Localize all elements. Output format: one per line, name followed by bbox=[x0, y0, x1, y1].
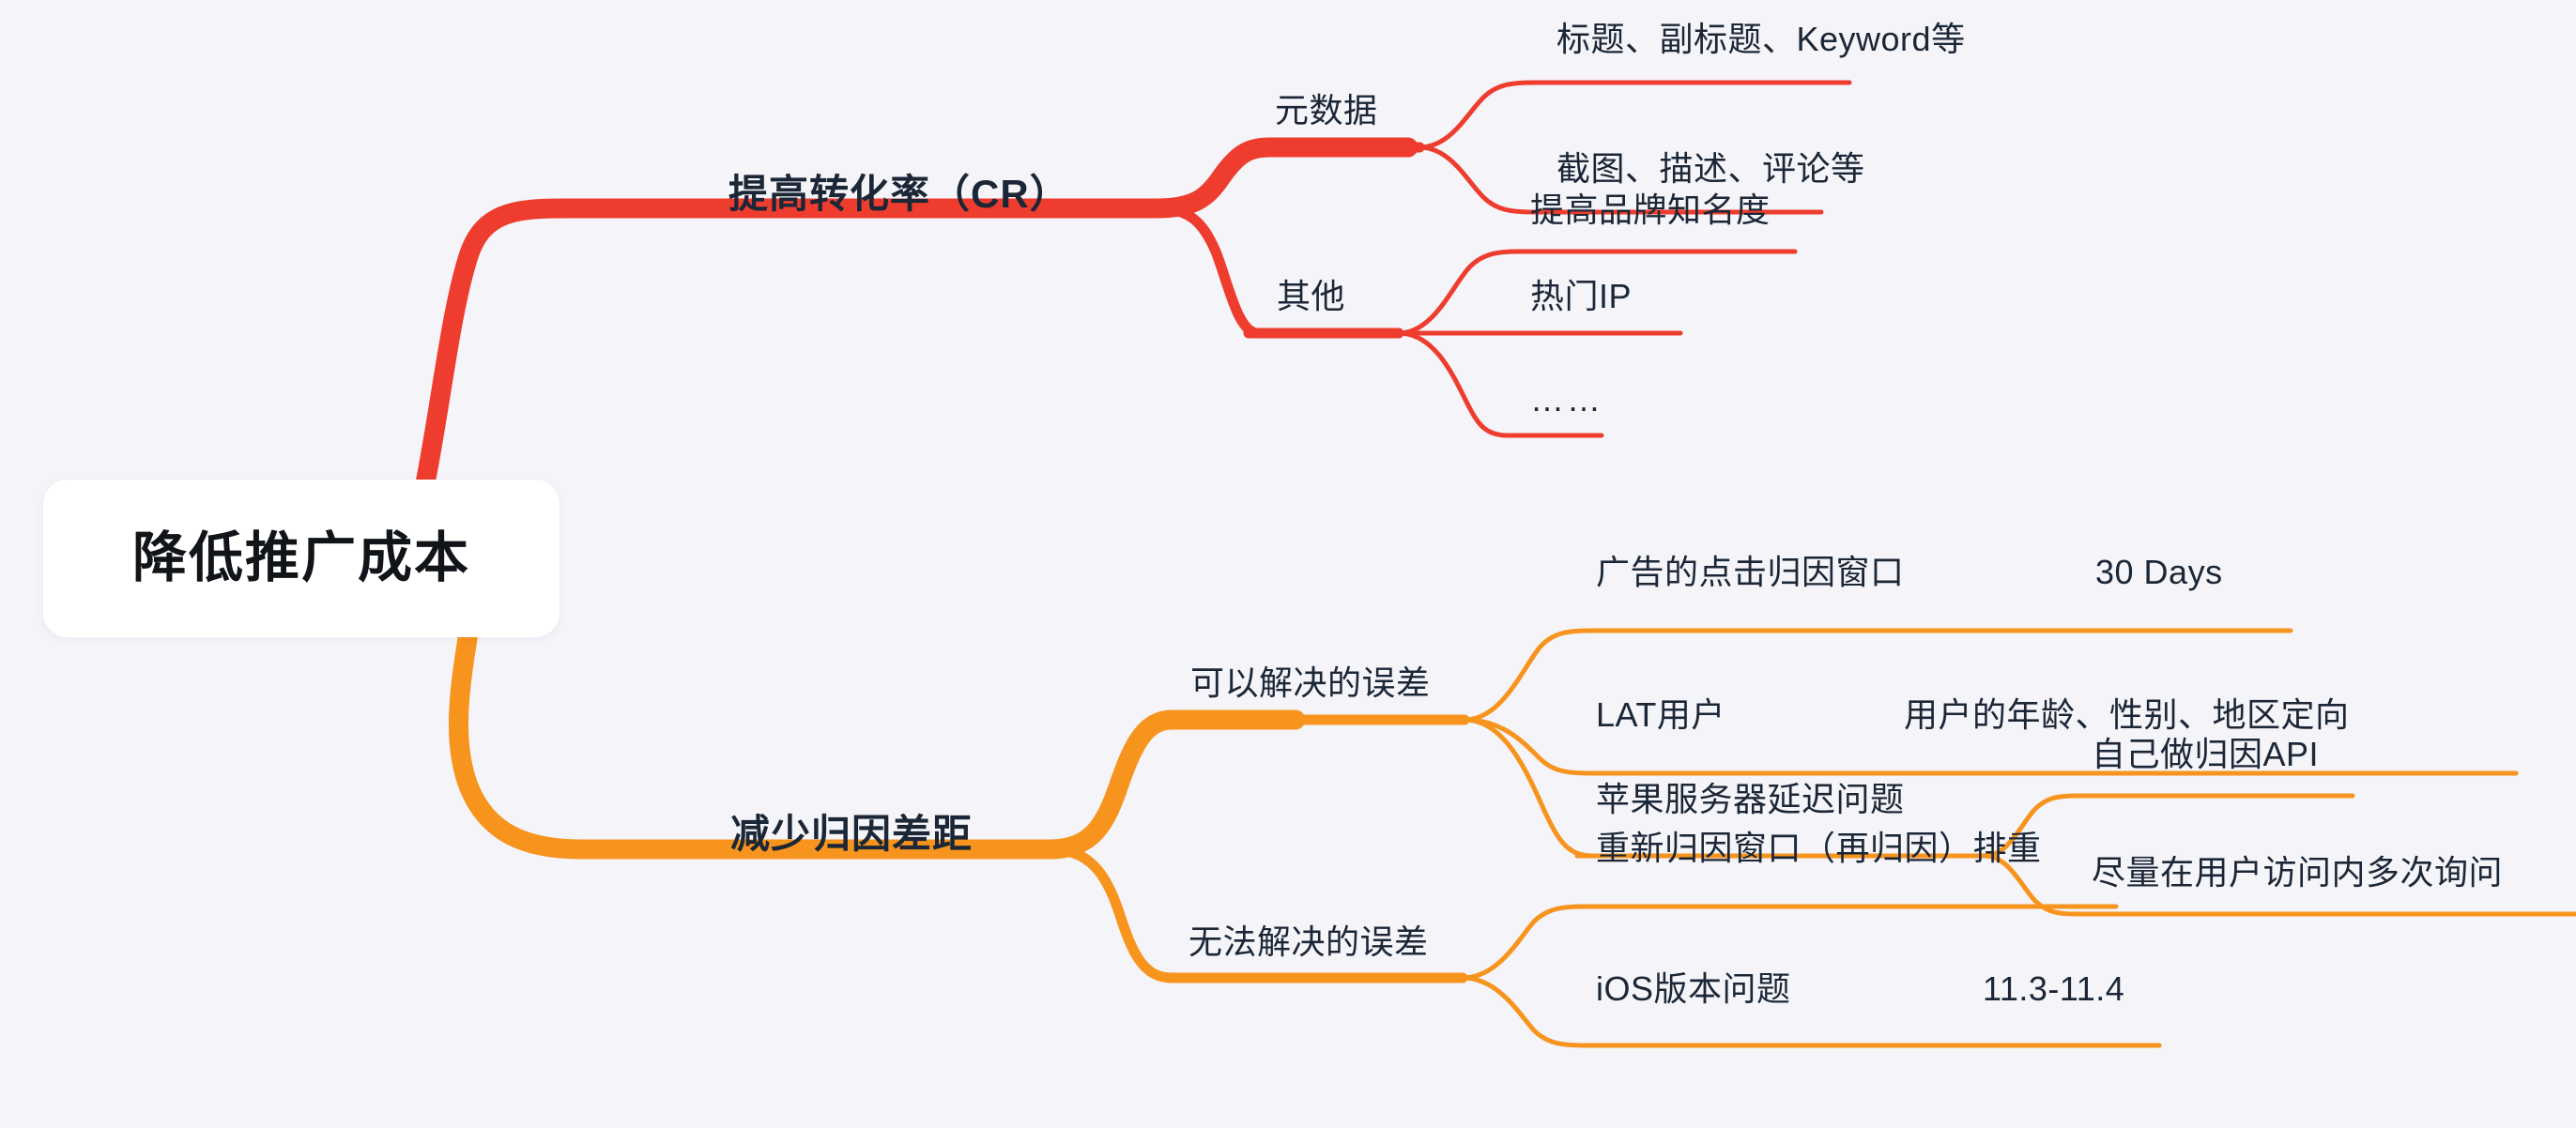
leaf-title-subtitle-keyword[interactable]: 标题、副标题、Keyword等 bbox=[1556, 23, 1966, 56]
leaf-ios-version-issue[interactable]: iOS版本问题 bbox=[1596, 972, 1791, 1006]
leaf-build-own-attribution-api[interactable]: 自己做归因API bbox=[2092, 738, 2319, 771]
mindmap-canvas: 降低推广成本 提高转化率（CR） 元数据 标题、副标题、Keyword等 截图、… bbox=[0, 0, 2576, 1128]
link-unsolvable-c1 bbox=[1463, 907, 2116, 978]
leaf-hot-ip[interactable]: 热门IP bbox=[1530, 280, 1632, 313]
leaf-apple-server-delay[interactable]: 苹果服务器延迟问题 bbox=[1596, 783, 1905, 816]
branch-label-improve-cr[interactable]: 提高转化率（CR） bbox=[728, 175, 1070, 214]
node-solvable-error[interactable]: 可以解决的误差 bbox=[1190, 666, 1431, 700]
link-metadata-leaf1 bbox=[1419, 83, 1849, 147]
leaf-improve-brand-awareness[interactable]: 提高品牌知名度 bbox=[1530, 193, 1771, 227]
node-metadata[interactable]: 元数据 bbox=[1275, 94, 1378, 128]
leaf-ad-click-attribution-window[interactable]: 广告的点击归因窗口 bbox=[1596, 556, 1905, 589]
root-node-label[interactable]: 降低推广成本 bbox=[43, 480, 560, 637]
trunk-red-taper bbox=[1157, 147, 1419, 208]
value-30-days[interactable]: 30 Days bbox=[2095, 556, 2223, 589]
node-unsolvable-error[interactable]: 无法解决的误差 bbox=[1188, 925, 1429, 959]
leaf-screenshot-description-review[interactable]: 截图、描述、评论等 bbox=[1556, 152, 1865, 186]
leaf-ellipsis[interactable]: …… bbox=[1530, 383, 1603, 417]
branch-label-reduce-attribution-gap[interactable]: 减少归因差距 bbox=[730, 815, 973, 854]
node-other[interactable]: 其他 bbox=[1277, 280, 1345, 313]
value-ios-11-3-11-4[interactable]: 11.3-11.4 bbox=[1983, 972, 2124, 1006]
trunk-orange-taper bbox=[1050, 720, 1307, 849]
leaf-lat-user[interactable]: LAT用户 bbox=[1596, 698, 1725, 732]
value-user-age-gender-region-targeting[interactable]: 用户的年龄、性别、地区定向 bbox=[1904, 698, 2350, 732]
leaf-query-multiple-times-in-session[interactable]: 尽量在用户访问内多次询问 bbox=[2092, 856, 2503, 890]
leaf-reattribution-window-dedup[interactable]: 重新归因窗口（再归因）排重 bbox=[1596, 831, 2042, 865]
